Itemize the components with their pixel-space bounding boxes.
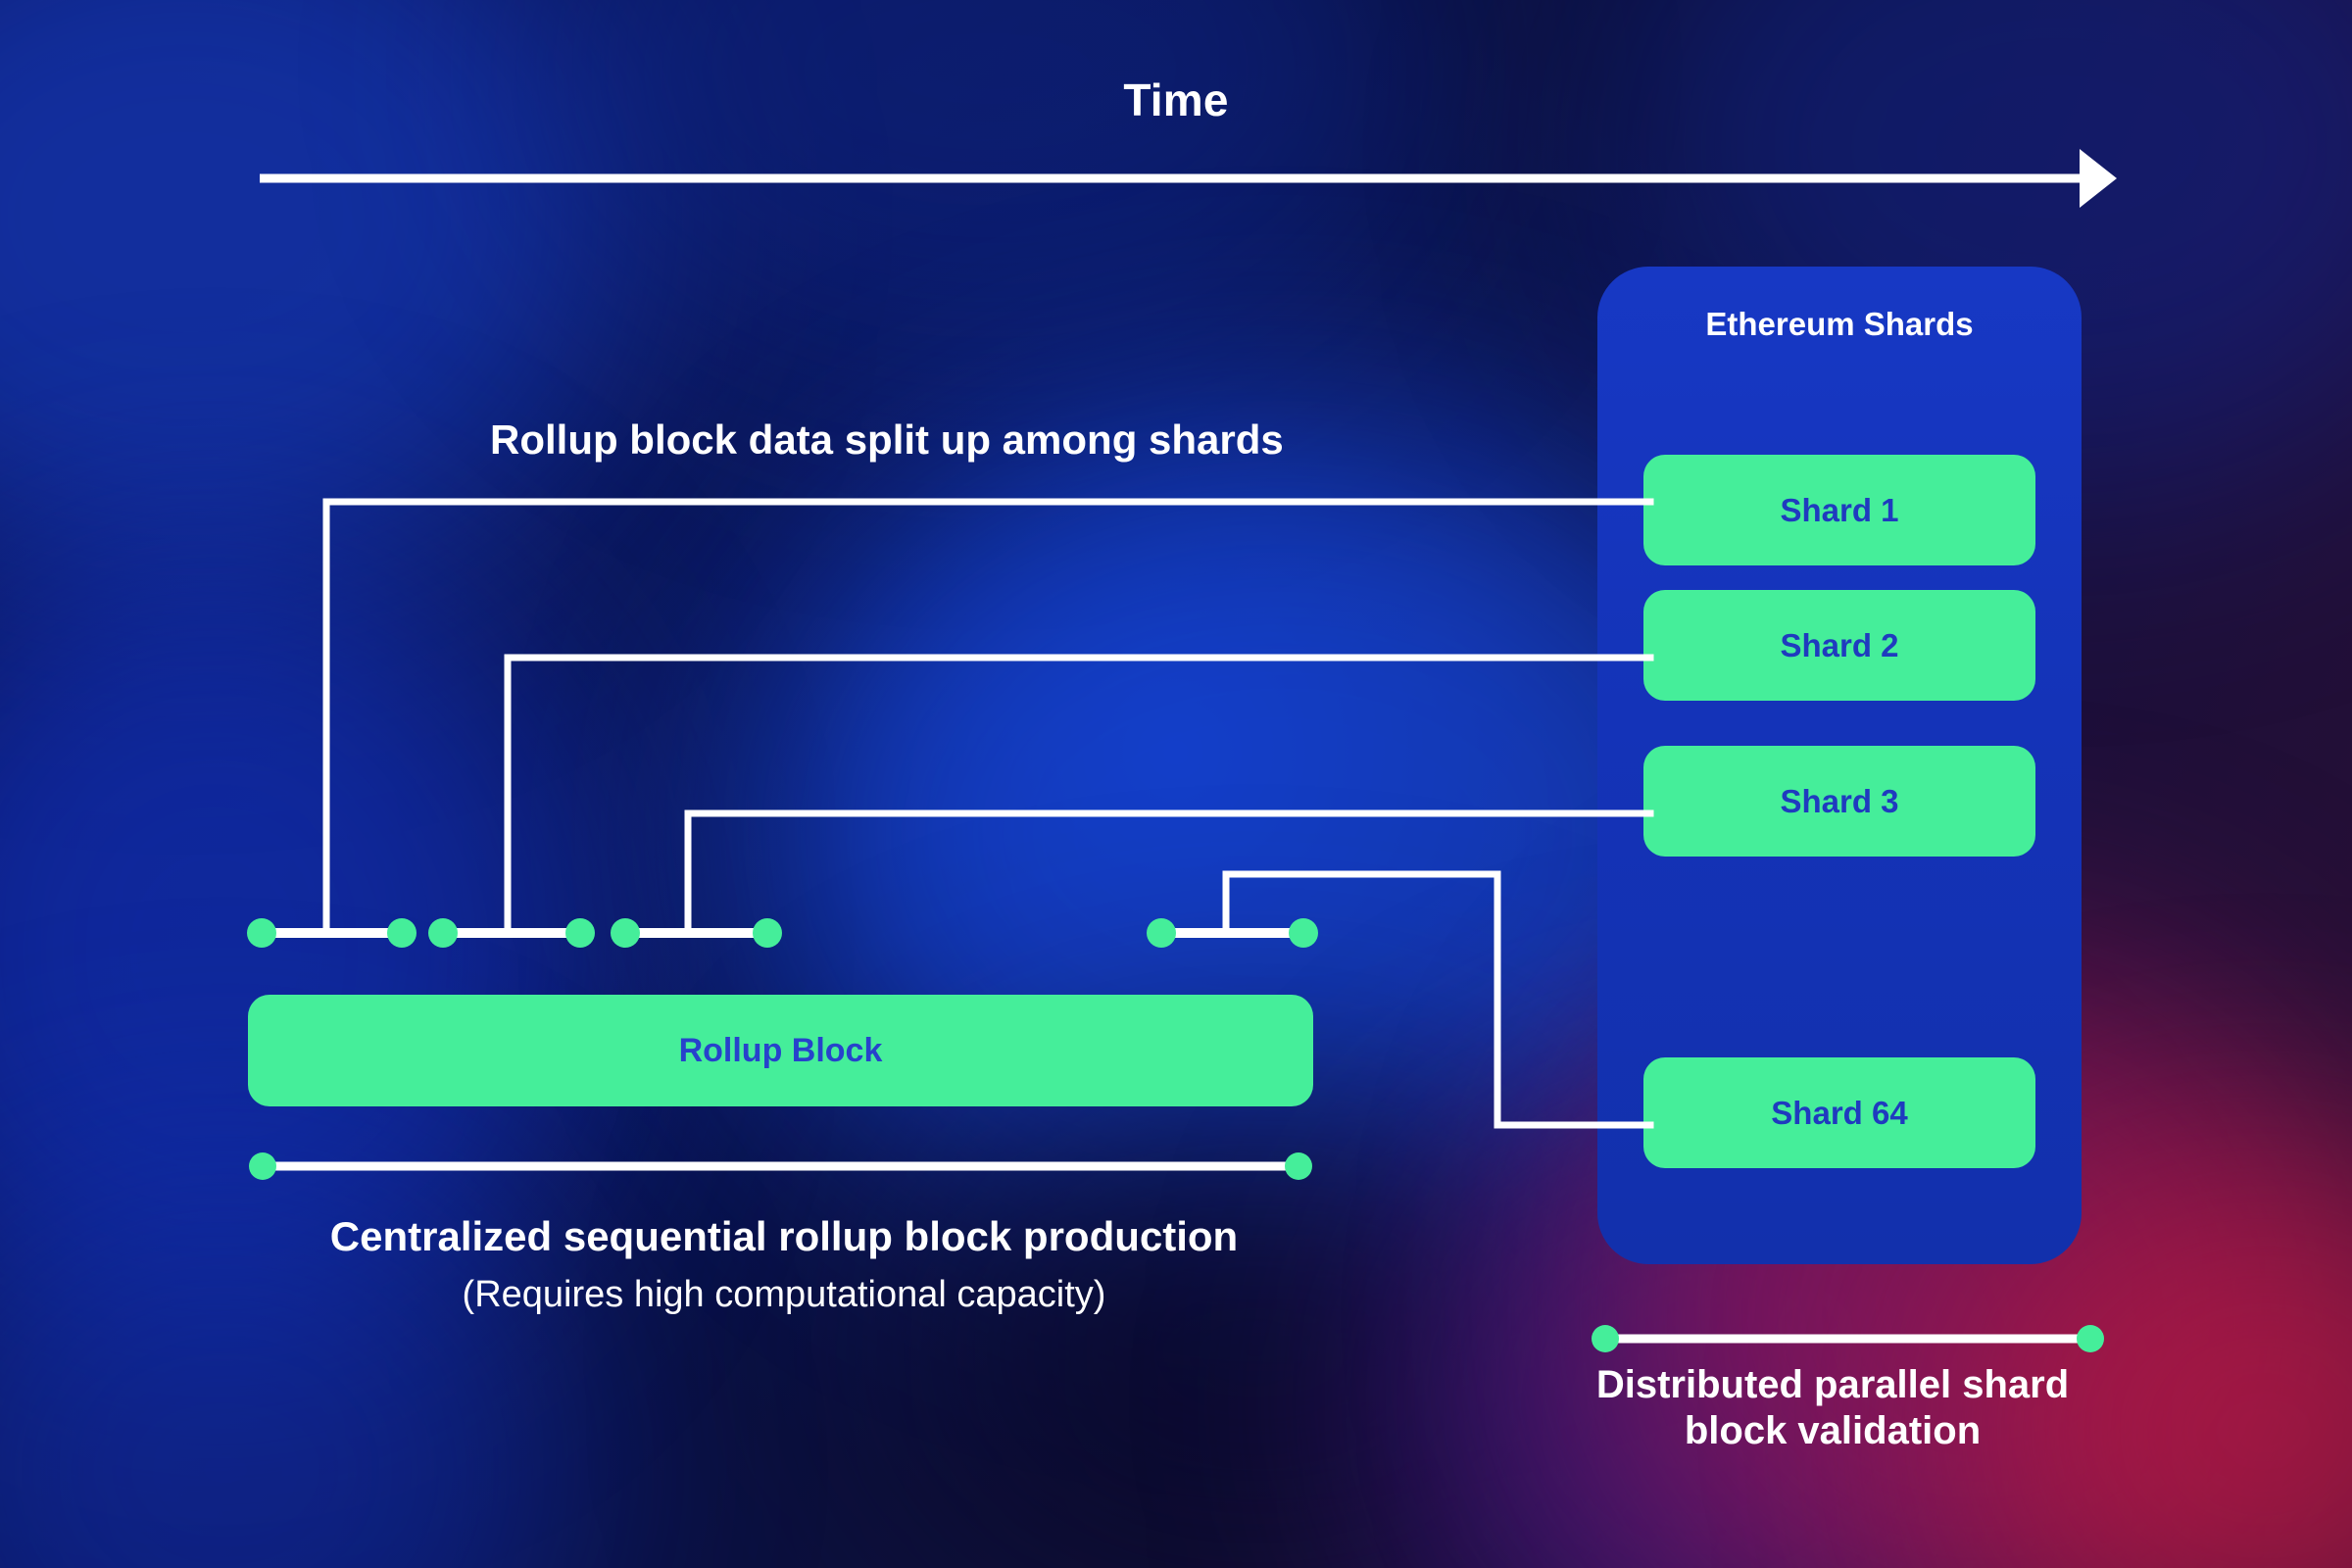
distributed-bar-end-dot bbox=[2077, 1325, 2104, 1352]
segment-3-start-dot bbox=[611, 918, 640, 948]
timeline-segment-2[interactable] bbox=[428, 918, 595, 948]
timeline-segment-4[interactable] bbox=[1147, 918, 1318, 948]
connector-shard-3 bbox=[688, 813, 1650, 933]
segment-3-end-dot bbox=[753, 918, 782, 948]
centralized-bar-end-dot bbox=[1285, 1152, 1312, 1180]
connector-shard-2 bbox=[508, 658, 1650, 933]
timeline-segment-1[interactable] bbox=[247, 918, 416, 948]
distributed-validation-bar bbox=[1592, 1325, 2104, 1352]
segment-2-start-dot bbox=[428, 918, 458, 948]
connector-overlay bbox=[0, 0, 2352, 1568]
segment-1-end-dot bbox=[387, 918, 416, 948]
segment-4-start-dot bbox=[1147, 918, 1176, 948]
segment-2-end-dot bbox=[565, 918, 595, 948]
centralized-production-bar bbox=[249, 1152, 1312, 1180]
connector-shard-64 bbox=[1226, 874, 1650, 1125]
centralized-bar-start-dot bbox=[249, 1152, 276, 1180]
time-arrow bbox=[260, 149, 2117, 208]
segment-4-end-dot bbox=[1289, 918, 1318, 948]
segment-1-start-dot bbox=[247, 918, 276, 948]
diagram-canvas: Time Ethereum Shards Shard 1 Shard 2 Sha… bbox=[0, 0, 2352, 1568]
distributed-bar-start-dot bbox=[1592, 1325, 1619, 1352]
connector-shard-1 bbox=[326, 502, 1650, 933]
timeline-segment-3[interactable] bbox=[611, 918, 782, 948]
